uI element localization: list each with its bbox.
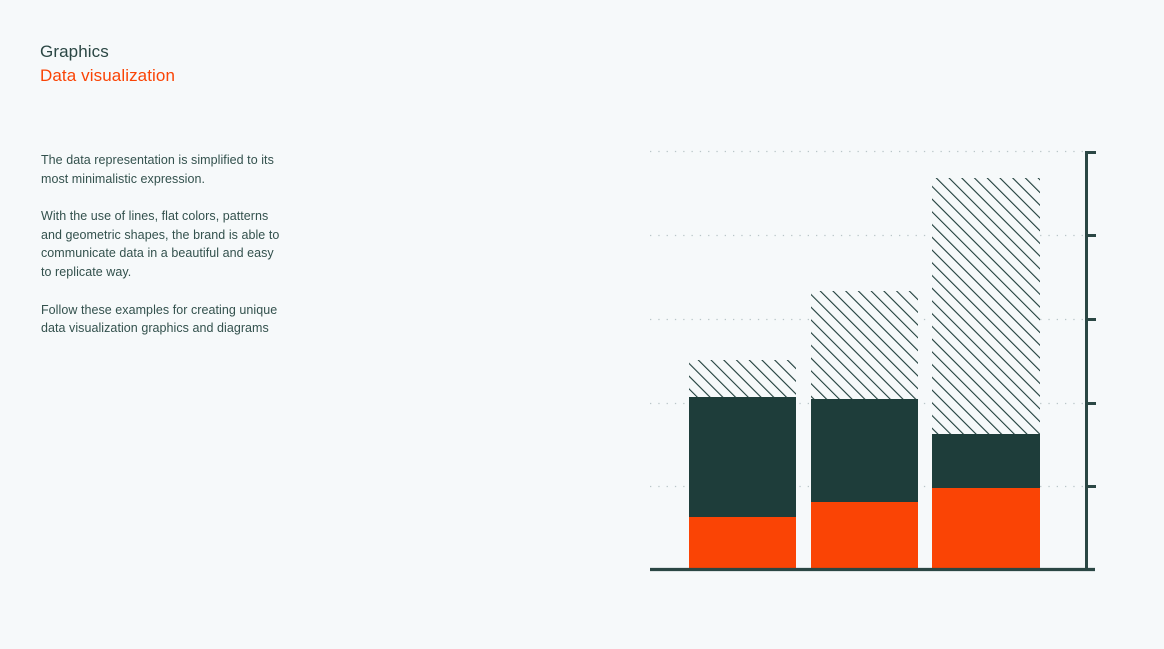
bar-2-accent-segment [811, 502, 918, 568]
bar-1-dark-segment [689, 397, 796, 517]
bar-group-2 [811, 291, 918, 568]
heading-block: Graphics Data visualization [40, 40, 380, 88]
body-paragraph: Follow these examples for creating uniqu… [41, 301, 286, 338]
body-copy: The data representation is simplified to… [41, 151, 286, 338]
body-paragraph: With the use of lines, flat colors, patt… [41, 207, 286, 281]
bar-1-accent-segment [689, 517, 796, 568]
bar-3-accent-segment [932, 488, 1040, 568]
bar-group-1 [689, 360, 796, 568]
page-title: Graphics [40, 40, 380, 64]
bar-group-3 [932, 178, 1040, 568]
bar-1-hatch-segment [689, 360, 796, 397]
bar-2-dark-segment [811, 399, 918, 502]
bar-3-dark-segment [932, 434, 1040, 488]
page-subtitle: Data visualization [40, 64, 380, 88]
stacked-bar-chart [648, 145, 1096, 577]
bar-2-hatch-segment [811, 291, 918, 399]
bar-3-hatch-segment [932, 178, 1040, 434]
body-paragraph: The data representation is simplified to… [41, 151, 286, 188]
chart-canvas [648, 145, 1096, 577]
